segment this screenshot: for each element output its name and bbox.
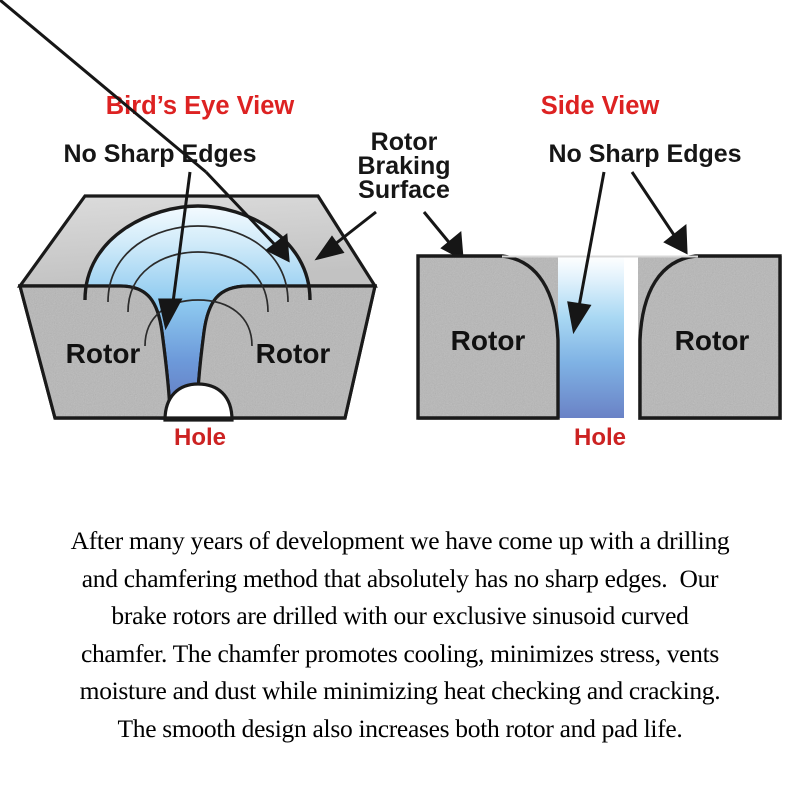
description-line-2: and chamfering method that absolutely ha… [6, 560, 794, 598]
side-view-rotor-right-label: Rotor [675, 325, 750, 356]
side-view-title: Side View [541, 92, 660, 120]
description-line-4: chamfer. The chamfer promotes cooling, m… [6, 635, 794, 673]
birds-eye-title: Bird’s Eye View [106, 92, 295, 120]
diagram-page: Bird’s Eye View No Sharp Edges Rotor Rot… [0, 0, 800, 800]
description-line-6: The smooth design also increases both ro… [6, 710, 794, 748]
birds-eye-rotor-left-label: Rotor [66, 338, 141, 369]
birds-eye-no-sharp-edges-label: No Sharp Edges [63, 140, 256, 168]
birds-eye-hole-label: Hole [174, 424, 226, 451]
description-paragraph: After many years of development we have … [0, 522, 800, 747]
side-view-hole-label: Hole [574, 424, 626, 451]
side-view-hole-slot [556, 256, 624, 418]
birds-eye-rotor-right-label: Rotor [256, 338, 331, 369]
side-view-no-sharp-edges-label: No Sharp Edges [548, 140, 741, 168]
description-line-3: brake rotors are drilled with our exclus… [6, 597, 794, 635]
rotor-braking-surface-line3: Surface [358, 176, 450, 204]
side-view-rotor-left-label: Rotor [451, 325, 526, 356]
rotor-chamfer-illustration: Bird’s Eye View No Sharp Edges Rotor Rot… [0, 0, 800, 500]
birds-eye-view-group: Bird’s Eye View No Sharp Edges Rotor Rot… [0, 0, 385, 451]
description-line-5: moisture and dust while minimizing heat … [6, 672, 794, 710]
side-view-group: Side View No Sharp Edges Rotor Rotor Hol… [418, 92, 782, 451]
description-line-1: After many years of development we have … [6, 522, 794, 560]
